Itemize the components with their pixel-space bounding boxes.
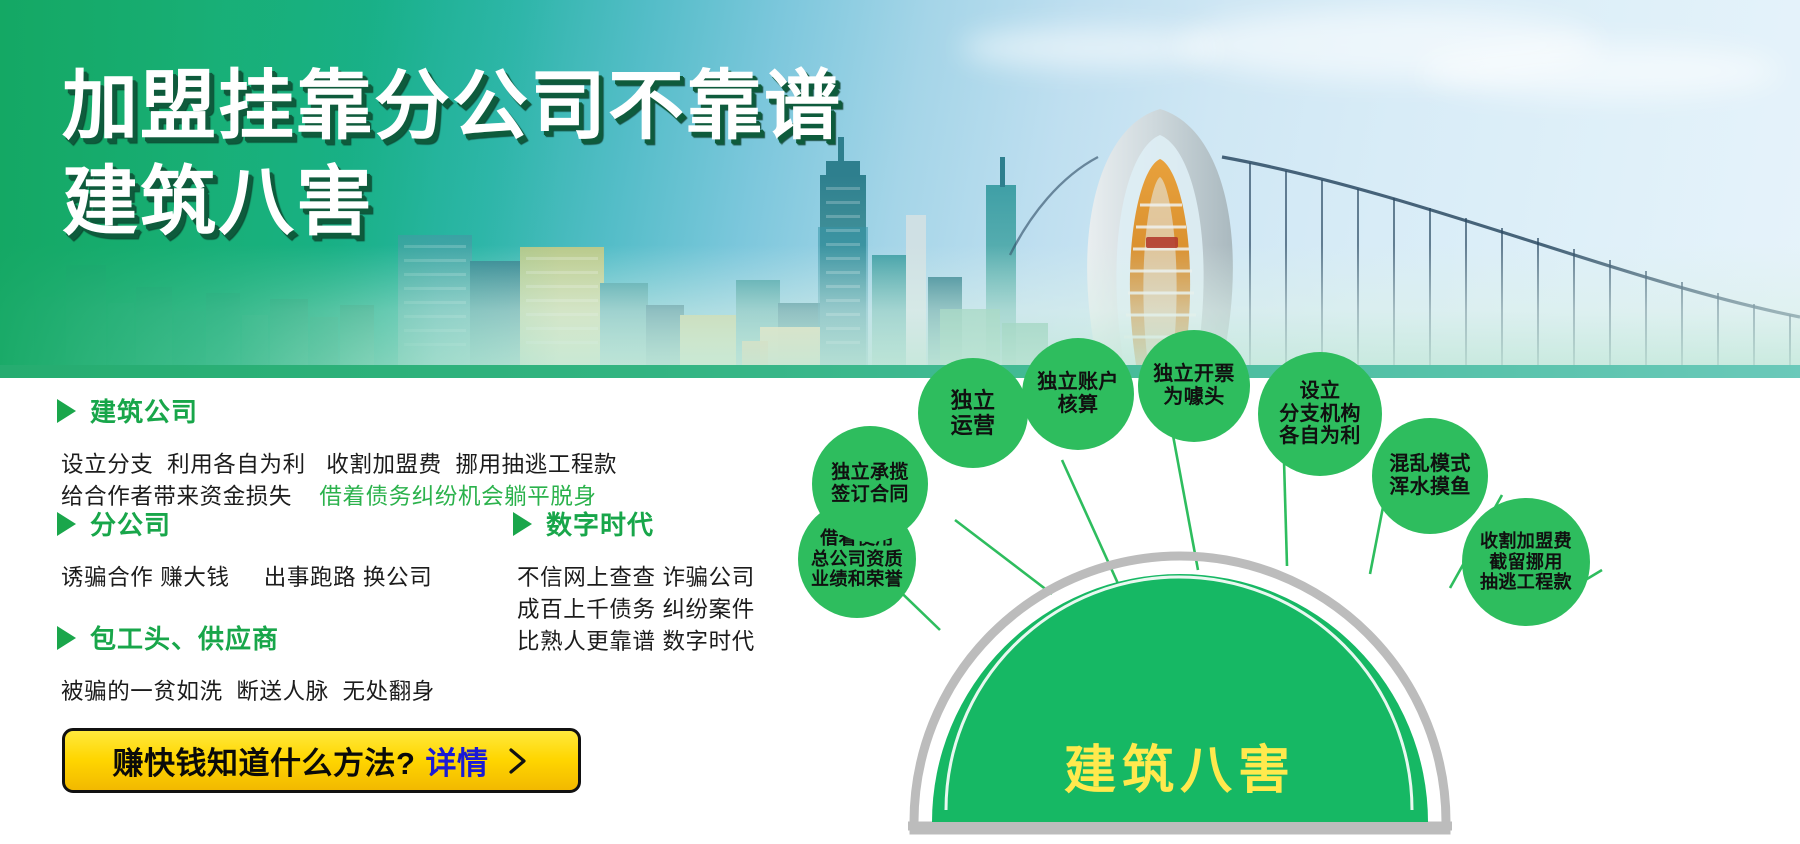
cta-details-link[interactable]: 详情 xyxy=(425,738,488,783)
page-title: 加盟挂靠分公司不靠谱 建筑八害 xyxy=(62,62,842,247)
section-heading-label: 建筑公司 xyxy=(90,392,198,429)
bubble-harvest-fees: 收割加盟费 截留挪用 抽逃工程款 xyxy=(1462,498,1590,626)
bubble-line: 独立承揽 xyxy=(831,462,909,484)
section-construction-company: 建筑公司 设立分支 利用各自为利 收割加盟费 挪用抽逃工程款 给合作者带来资金损… xyxy=(57,392,617,513)
cta-question-label: 赚快钱知道什么方法? xyxy=(113,738,416,783)
bubble-line: 独立账户 xyxy=(1037,371,1119,394)
triangle-bullet-icon xyxy=(57,512,76,536)
bubble-independent-contract: 独立承揽 签订合同 xyxy=(812,426,928,542)
body-text: 设立分支 利用各自为利 收割加盟费 挪用抽逃工程款 xyxy=(61,452,617,477)
section-heading-label: 包工头、供应商 xyxy=(90,619,279,656)
section-heading: 包工头、供应商 xyxy=(57,619,435,656)
bubble-line: 浑水摸鱼 xyxy=(1389,476,1471,499)
bubble-line: 运营 xyxy=(951,413,996,438)
bubble-line: 设立 xyxy=(1300,380,1341,403)
section-contractor-supplier: 包工头、供应商 被骗的一贫如洗 断送人脉 无处翻身 xyxy=(57,619,435,708)
triangle-bullet-icon xyxy=(513,512,532,536)
body-line: 比熟人更靠谱 数字时代 xyxy=(517,626,755,658)
body-text: 比熟人更靠谱 数字时代 xyxy=(517,629,755,654)
dome-center-label: 建筑八害 xyxy=(1018,728,1342,803)
bazhai-diagram: 建筑八害 借着使用 总公司资质 业绩和荣誉 独立承揽 签订合同 独立 运营 独立… xyxy=(790,330,1800,844)
bubble-line: 抽逃工程款 xyxy=(1480,572,1572,593)
section-body: 被骗的一贫如洗 断送人脉 无处翻身 xyxy=(61,676,435,708)
bubble-line: 签订合同 xyxy=(831,484,909,506)
section-heading-label: 数字时代 xyxy=(546,505,654,542)
body-line: 设立分支 利用各自为利 收割加盟费 挪用抽逃工程款 xyxy=(61,449,617,481)
bubble-line: 独立开票 xyxy=(1153,363,1235,386)
body-line: 诱骗合作 赚大钱 出事跑路 换公司 xyxy=(61,562,432,594)
bubble-line: 核算 xyxy=(1058,394,1099,417)
bubble-line: 总公司资质 xyxy=(811,549,903,570)
body-text: 诱骗合作 赚大钱 出事跑路 换公司 xyxy=(61,565,432,590)
body-text: 不信网上查查 诈骗公司 xyxy=(517,565,755,590)
body-text: 被骗的一贫如洗 断送人脉 无处翻身 xyxy=(61,679,435,704)
bubble-line: 截留挪用 xyxy=(1489,552,1563,573)
body-line: 成百上千债务 纠纷案件 xyxy=(517,594,755,626)
section-body: 诱骗合作 赚大钱 出事跑路 换公司 xyxy=(61,562,432,594)
body-text: 成百上千债务 纠纷案件 xyxy=(517,597,755,622)
section-branch-company: 分公司 诱骗合作 赚大钱 出事跑路 换公司 xyxy=(57,505,432,594)
left-content-column: 建筑公司 设立分支 利用各自为利 收割加盟费 挪用抽逃工程款 给合作者带来资金损… xyxy=(0,392,790,844)
bubble-line: 为噱头 xyxy=(1163,386,1224,409)
title-line-1: 加盟挂靠分公司不靠谱 xyxy=(62,64,842,149)
triangle-bullet-icon xyxy=(57,399,76,423)
section-heading: 建筑公司 xyxy=(57,392,617,429)
title-line-2: 建筑八害 xyxy=(62,158,842,248)
bubble-line: 混乱模式 xyxy=(1389,453,1471,476)
details-cta-button[interactable]: 赚快钱知道什么方法? 详情 xyxy=(62,728,581,793)
bubble-independent-invoice: 独立开票 为噱头 xyxy=(1138,330,1250,442)
cloud-shape xyxy=(960,28,1220,68)
section-heading: 数字时代 xyxy=(513,505,755,542)
hero-banner: 加盟挂靠分公司不靠谱 建筑八害 xyxy=(0,0,1800,365)
section-body: 设立分支 利用各自为利 收割加盟费 挪用抽逃工程款 给合作者带来资金损失 借着债… xyxy=(61,449,617,513)
body-line: 被骗的一贫如洗 断送人脉 无处翻身 xyxy=(61,676,435,708)
chevron-right-icon xyxy=(506,745,530,777)
section-body: 不信网上查查 诈骗公司 成百上千债务 纠纷案件 比熟人更靠谱 数字时代 xyxy=(517,562,755,658)
bubble-line: 业绩和荣誉 xyxy=(811,569,903,590)
section-heading-label: 分公司 xyxy=(90,505,171,542)
bubble-line: 分支机构 xyxy=(1279,403,1361,426)
bubble-line: 收割加盟费 xyxy=(1480,531,1572,552)
triangle-bullet-icon xyxy=(57,626,76,650)
bubble-independent-operation: 独立 运营 xyxy=(918,358,1028,468)
bubble-line: 各自为利 xyxy=(1279,425,1361,448)
section-heading: 分公司 xyxy=(57,505,432,542)
bubble-line: 独立 xyxy=(951,388,996,413)
body-line: 不信网上查查 诈骗公司 xyxy=(517,562,755,594)
bubble-establish-branch: 设立 分支机构 各自为利 xyxy=(1258,352,1382,476)
section-digital-era: 数字时代 不信网上查查 诈骗公司 成百上千债务 纠纷案件 比熟人更靠谱 数字时代 xyxy=(513,505,755,658)
bubble-independent-account: 独立账户 核算 xyxy=(1022,338,1134,450)
bubble-chaotic-mode: 混乱模式 浑水摸鱼 xyxy=(1372,418,1488,534)
